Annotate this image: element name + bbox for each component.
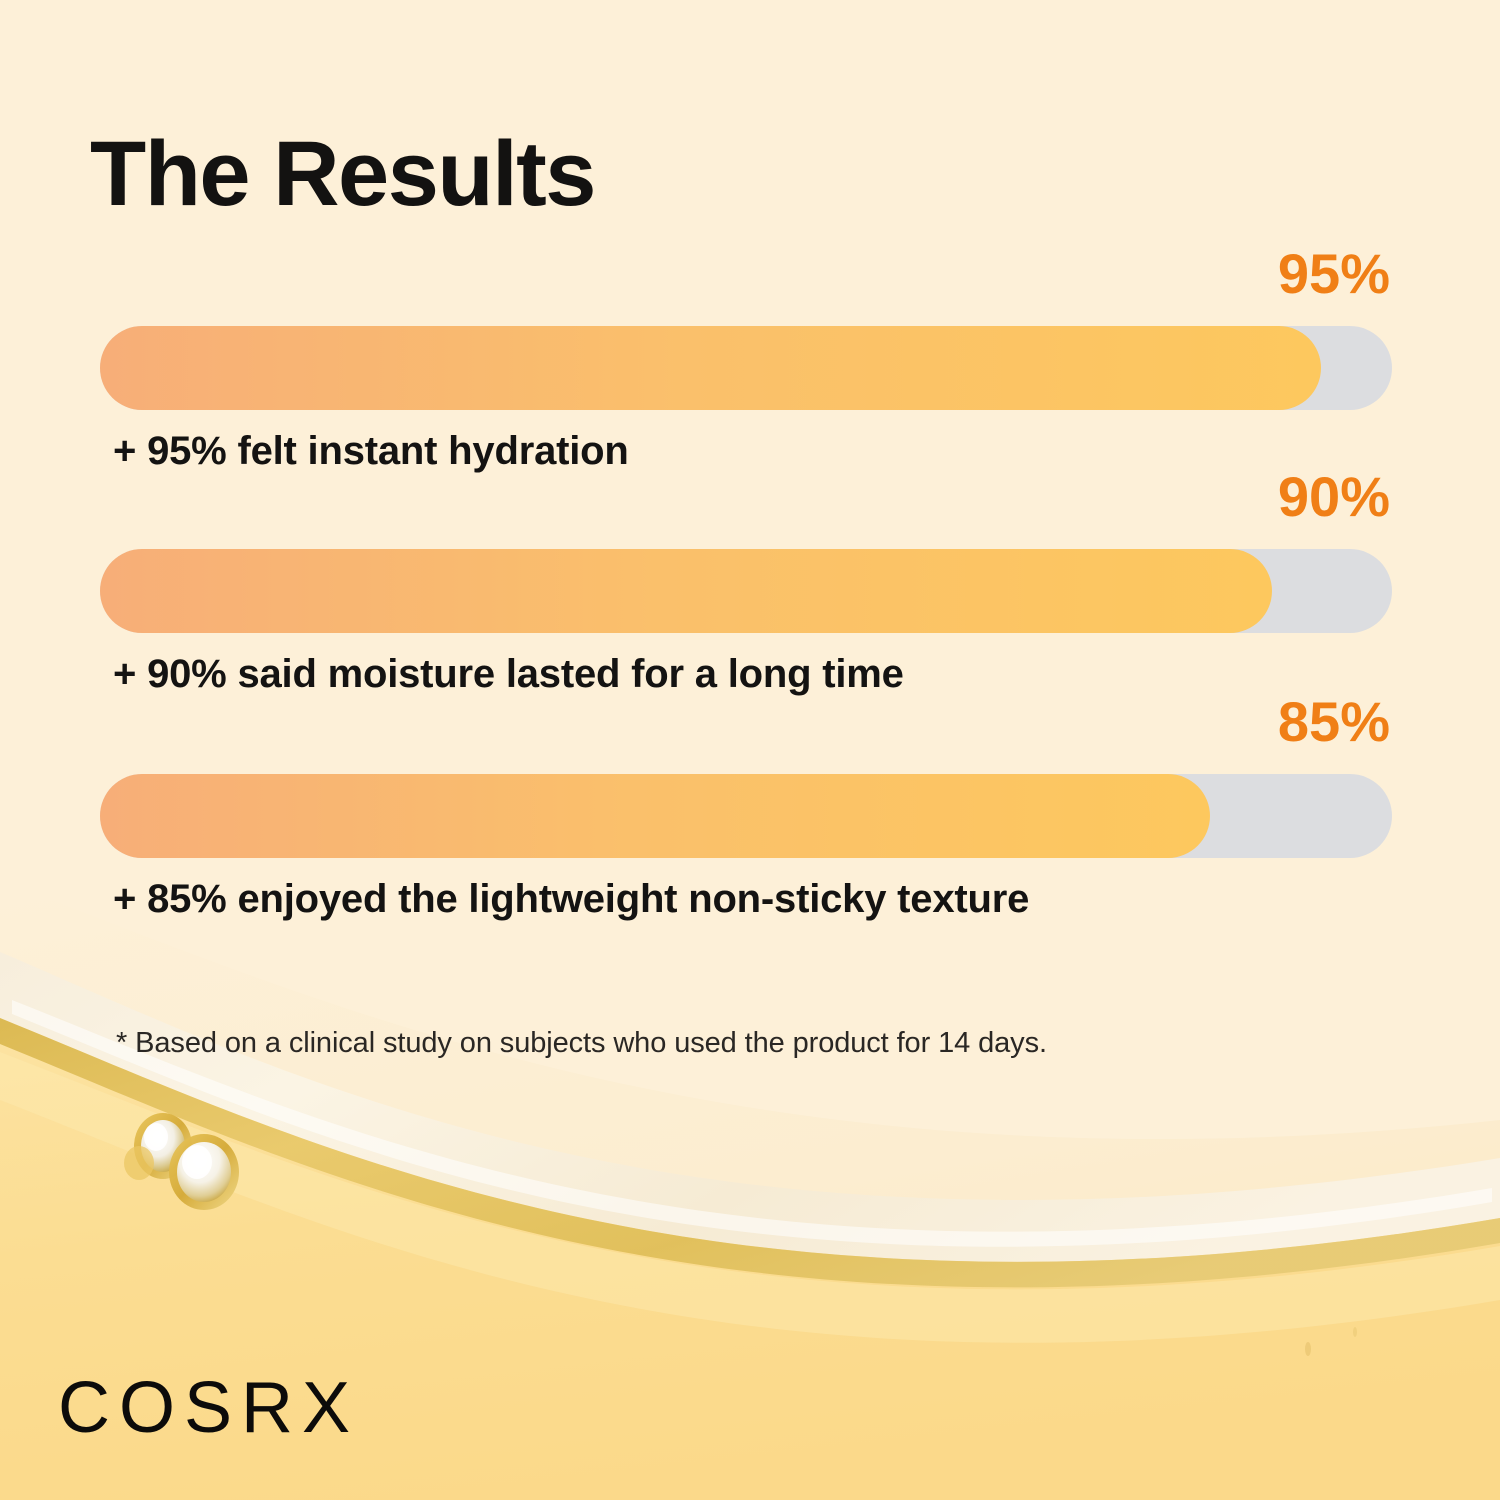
- result-caption: + 95% felt instant hydration: [113, 428, 629, 474]
- results-poster: The Results 95% + 95% felt instant hydra…: [0, 0, 1500, 1500]
- progress-bar-fill: [100, 326, 1321, 410]
- progress-bar-track: [100, 774, 1392, 858]
- percent-label: 90%: [1278, 469, 1390, 525]
- footnote-text: * Based on a clinical study on subjects …: [116, 1027, 1047, 1060]
- progress-bar-fill: [100, 549, 1272, 633]
- progress-bar-track: [100, 326, 1392, 410]
- progress-bar-track: [100, 549, 1392, 633]
- oil-liquid-background-art: [0, 0, 1500, 1500]
- result-caption: + 90% said moisture lasted for a long ti…: [113, 651, 904, 697]
- percent-label: 95%: [1278, 246, 1390, 302]
- percent-label: 85%: [1278, 694, 1390, 750]
- progress-bar-fill: [100, 774, 1210, 858]
- page-title: The Results: [90, 128, 595, 220]
- result-caption: + 85% enjoyed the lightweight non-sticky…: [113, 876, 1029, 922]
- brand-logo-cosrx: COSRX: [58, 1372, 359, 1444]
